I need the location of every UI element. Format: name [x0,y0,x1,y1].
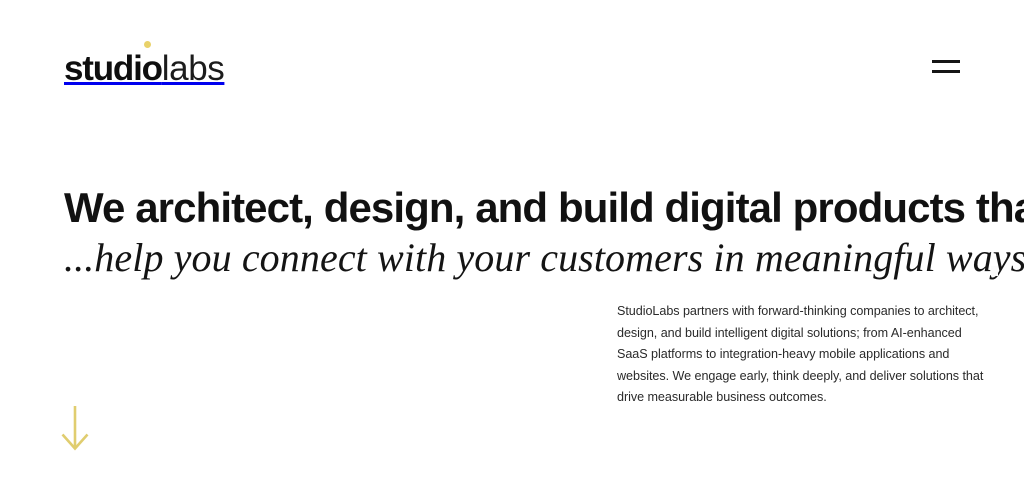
scroll-down-arrow-icon[interactable] [58,404,92,452]
brand-logo-studio-text: studio [64,49,162,88]
hero-headline-secondary: ...help you connect with your customers … [64,232,964,284]
brand-logo[interactable]: studio labs [64,51,224,86]
landing-page: studio labs We architect, design, and bu… [0,0,1024,483]
brand-logo-dot-icon [144,41,151,48]
intro-paragraph: StudioLabs partners with forward-thinkin… [617,301,992,409]
site-header: studio labs [0,0,1024,132]
brand-logo-studio: studio [64,51,162,86]
hero-headline-primary: We architect, design, and build digital … [64,182,964,234]
hamburger-menu-icon[interactable] [932,55,962,77]
page-edge-artifact [991,266,998,276]
brand-logo-labs: labs [162,51,225,86]
arrow-down-svg [58,404,92,452]
hamburger-bar-bottom [932,70,960,73]
hamburger-bar-top [932,60,960,63]
hero-heading: We architect, design, and build digital … [64,182,964,286]
